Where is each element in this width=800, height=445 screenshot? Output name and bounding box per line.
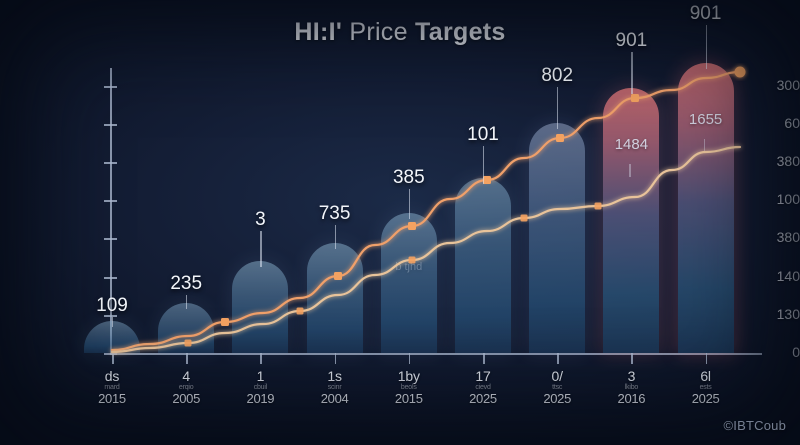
bar-value-label: 802 (512, 65, 602, 87)
value-label-leader-line (631, 52, 632, 94)
value-label-leader-line (557, 87, 558, 129)
series-line (112, 72, 740, 350)
series-marker (556, 134, 564, 142)
bar-value-label: 235 (141, 273, 231, 295)
series-marker (297, 308, 304, 315)
series-marker (221, 318, 229, 326)
bar-value-label: 109 (67, 295, 157, 317)
bar-value-label: 901 (661, 3, 751, 25)
value-label-leader-line (335, 225, 336, 249)
chart-canvas: HI:I' Price Targets 30060380100380140130… (0, 0, 800, 445)
bar-value-label: 385 (364, 167, 454, 189)
bar-value-label: 901 (586, 30, 676, 52)
bar-value-label: 101 (438, 124, 528, 146)
bar-value-label: 735 (290, 203, 380, 225)
series-marker (521, 215, 528, 222)
value-label-leader-line (706, 25, 707, 69)
value-label-leader-line (409, 189, 410, 219)
series-marker (631, 94, 639, 102)
series-marker (185, 340, 192, 347)
series-endpoint-marker (735, 67, 746, 78)
series-marker (595, 203, 602, 210)
watermark: ©IBTCoub (724, 418, 786, 433)
series-lines-layer (0, 0, 800, 445)
value-label-leader-line (112, 317, 113, 327)
series-marker (334, 272, 342, 280)
value-label-leader-line (483, 146, 484, 184)
series-marker (409, 257, 416, 264)
series-marker (408, 222, 416, 230)
value-label-leader-line (186, 295, 187, 309)
value-label-leader-line (260, 231, 261, 267)
